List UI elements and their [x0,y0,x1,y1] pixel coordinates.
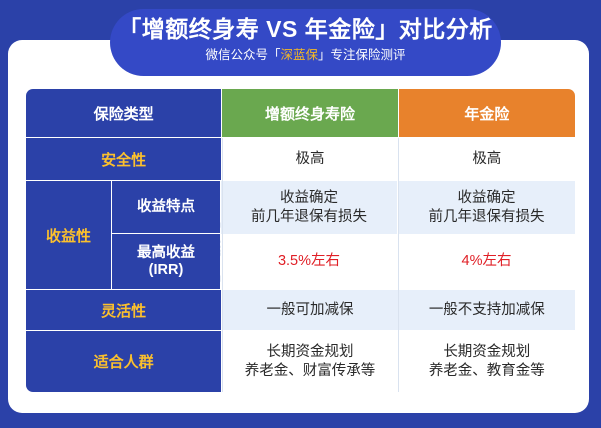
cell-line: 一般可加减保 [266,301,353,320]
row-sublabel-max-yield: 最高收益 (IRR) [112,234,220,289]
yield-sublabels: 收益特点 最高收益 (IRR) [111,181,220,289]
column-divider-right [398,138,399,392]
column-header-type: 保险类型 [26,89,221,137]
row-label-security: 安全性 [26,138,221,180]
cell-line: 长期资金规划 [266,343,353,362]
yield-life-cells: 收益确定 前几年退保有损失 3.5%左右 [221,181,397,289]
cell-audience-life: 长期资金规划 养老金、财富传承等 [222,331,397,392]
cell-line: 收益确定 [458,189,516,208]
cell-line: 前几年退保有损失 [429,208,545,227]
cell-line: 前几年退保有损失 [251,208,367,227]
cell-audience-annuity: 长期资金规划 养老金、教育金等 [399,331,575,392]
subtitle-brand: 深蓝保 [280,48,318,62]
cell-line: 4%左右 [462,252,512,271]
column-header-life: 增额终身寿险 [222,89,397,137]
subtitle-prefix: 微信公众号「 [205,48,280,62]
cell-line: 极高 [472,150,501,169]
cell-line: 极高 [295,150,324,169]
page-title: 「增额终身寿 VS 年金险」对比分析 [118,15,492,44]
cell-line: 养老金、财富传承等 [245,362,376,381]
cell-max-yield-annuity: 4%左右 [398,234,575,289]
cell-line: 长期资金规划 [443,343,530,362]
column-header-annuity: 年金险 [399,89,575,137]
yield-annuity-cells: 收益确定 前几年退保有损失 4%左右 [398,181,575,289]
row-label-flexibility: 灵活性 [26,290,221,330]
row-label-yield: 收益性 [26,181,111,289]
table-row: 灵活性 一般可加减保 一般不支持加减保 [26,290,575,331]
sublabel-line1: 最高收益 [137,245,195,262]
title-banner: 「增额终身寿 VS 年金险」对比分析 微信公众号「深蓝保」专注保险测评 [110,9,501,76]
table-row: 适合人群 长期资金规划 养老金、财富传承等 长期资金规划 养老金、教育金等 [26,331,575,392]
cell-line: 收益确定 [280,189,338,208]
cell-security-annuity: 极高 [399,138,575,180]
cell-max-yield-life: 3.5%左右 [221,234,397,289]
row-sublabel-yield-feature: 收益特点 [112,181,220,234]
table-row: 安全性 极高 极高 [26,138,575,181]
subtitle-suffix: 」专注保险测评 [318,48,406,62]
cell-line: 一般不支持加减保 [429,301,545,320]
column-divider-left [222,138,223,392]
sublabel-line2: (IRR) [149,262,184,279]
cell-yield-feature-annuity: 收益确定 前几年退保有损失 [398,181,575,234]
table-row-group-yield: 收益性 收益特点 最高收益 (IRR) 收益确定 前几年退保有损失 3.5%左右 [26,181,575,289]
screenshot-root: 深蓝保 shenlanbao.com 专业 | 诚信 「增额终身寿 VS 年金险… [0,0,601,428]
cell-line: 养老金、教育金等 [429,362,545,381]
cell-security-life: 极高 [222,138,397,180]
cell-yield-feature-life: 收益确定 前几年退保有损失 [221,181,397,234]
cell-line: 3.5%左右 [278,252,340,271]
page-subtitle: 微信公众号「深蓝保」专注保险测评 [205,47,405,63]
table-header-row: 保险类型 增额终身寿险 年金险 [26,89,575,138]
row-label-audience: 适合人群 [26,331,221,392]
cell-flexibility-life: 一般可加减保 [222,290,397,330]
cell-flexibility-annuity: 一般不支持加减保 [399,290,575,330]
